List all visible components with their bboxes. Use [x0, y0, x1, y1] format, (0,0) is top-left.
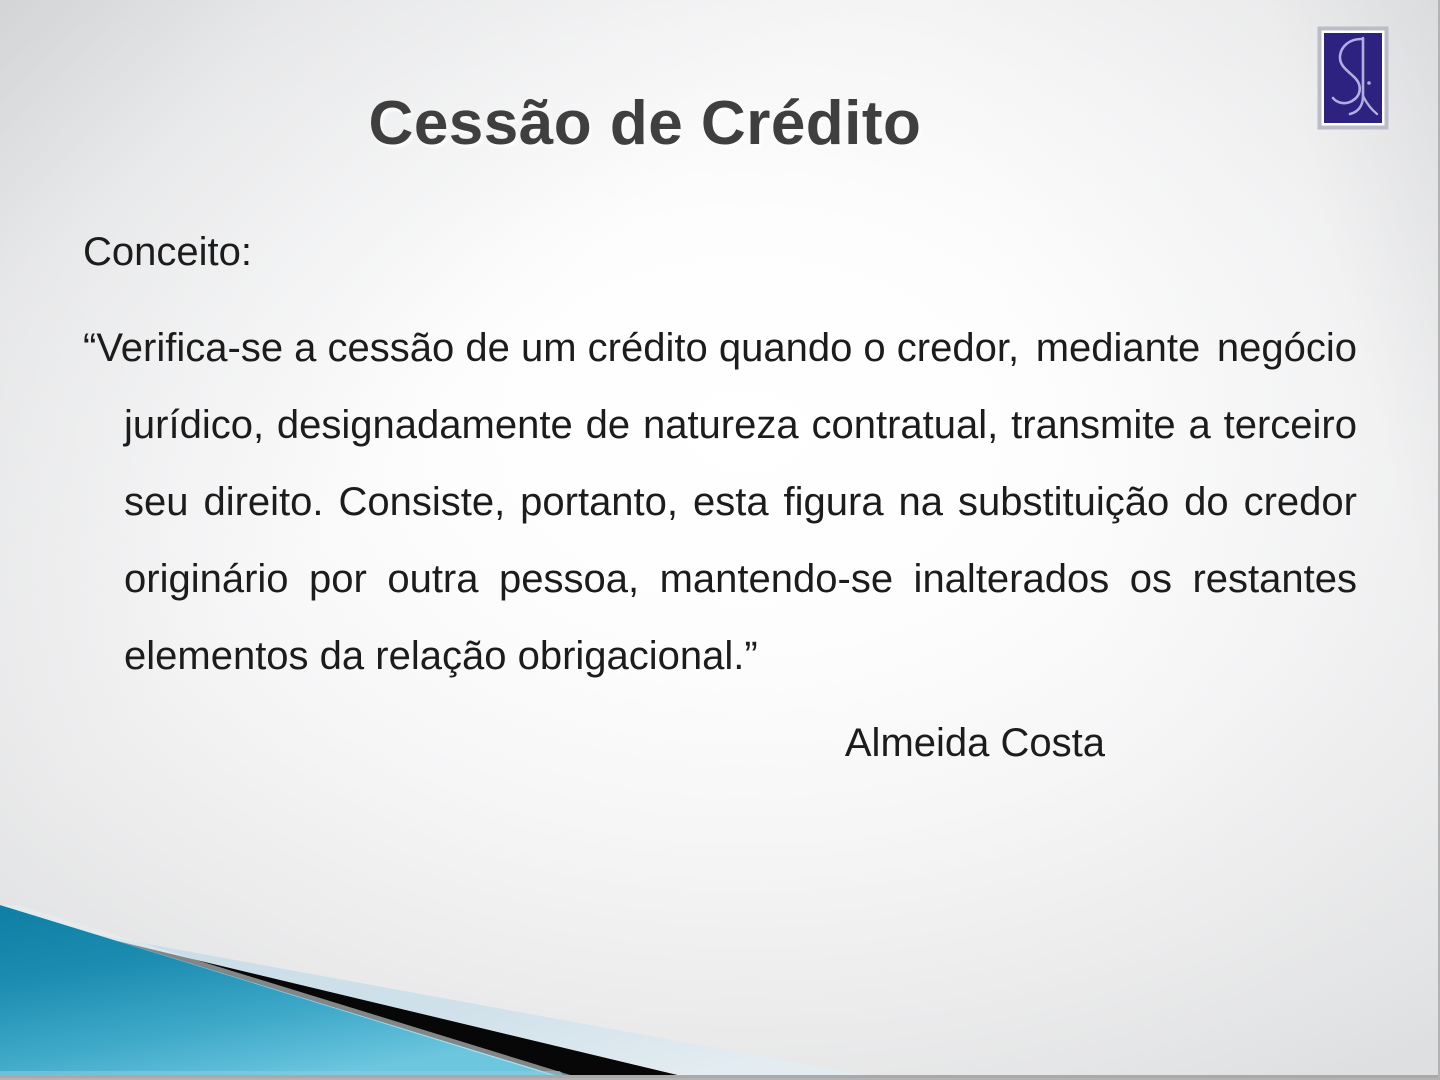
concept-label: Conceito:	[83, 232, 1357, 272]
footer-black-band	[0, 913, 690, 1078]
footer-teal-triangle	[0, 905, 565, 1078]
footer-pale-band	[0, 917, 880, 1078]
page-title: Cessão de Crédito	[0, 88, 1290, 159]
footer-decoration	[0, 893, 1440, 1078]
slide-body: Conceito: “Verifica-se a cessão de um cr…	[83, 232, 1357, 765]
quote-attribution: Almeida Costa	[83, 721, 1357, 765]
footer-teal-edge-highlight	[0, 905, 580, 1078]
quote-first-line: “Verifica-se a cessão de um crédito quan…	[83, 310, 1019, 387]
sj-monogram-logo	[1317, 26, 1389, 130]
slide-canvas: Cessão de Crédito Conceito: “Verifica-se…	[0, 0, 1440, 1080]
quote-text: “Verifica-se a cessão de um crédito quan…	[83, 310, 1357, 695]
bottom-rule	[0, 1075, 1440, 1078]
